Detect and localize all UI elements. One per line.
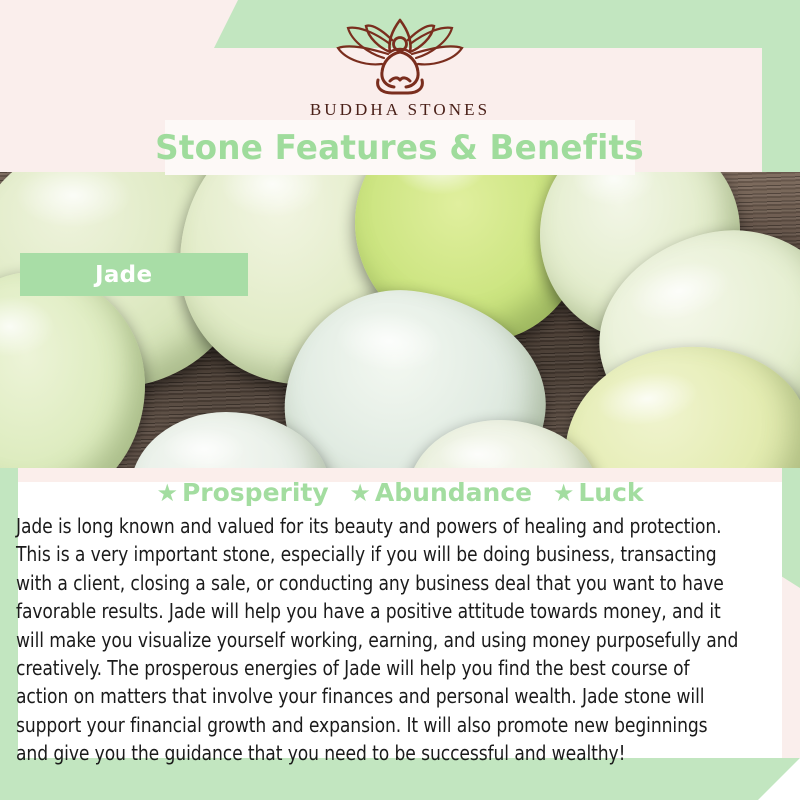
star-icon: ★: [156, 479, 178, 507]
brand-logo: BUDDHA STONES: [0, 14, 800, 120]
benefit-label: Abundance: [375, 478, 532, 507]
benefit-item-prosperity: ★Prosperity: [156, 478, 328, 507]
title-banner: Stone Features & Benefits: [165, 120, 635, 175]
brand-name: BUDDHA STONES: [0, 100, 800, 120]
lotus-meditation-icon: [320, 14, 480, 98]
benefit-item-abundance: ★Abundance: [349, 478, 532, 507]
stone-name-label: Jade: [95, 262, 152, 288]
benefit-label: Prosperity: [182, 478, 329, 507]
jade-stones-photo: [0, 172, 800, 468]
stone-info-card: BUDDHA STONES Stone Features & Benefits …: [0, 0, 800, 800]
stone-name-band: Jade: [20, 253, 248, 296]
page-title: Stone Features & Benefits: [156, 128, 645, 168]
star-icon: ★: [553, 479, 575, 507]
benefits-row: ★Prosperity ★Abundance ★Luck: [0, 478, 800, 507]
benefit-label: Luck: [578, 478, 643, 507]
stone-description: Jade is long known and valued for its be…: [16, 512, 742, 768]
star-icon: ★: [349, 479, 371, 507]
benefit-item-luck: ★Luck: [553, 478, 644, 507]
